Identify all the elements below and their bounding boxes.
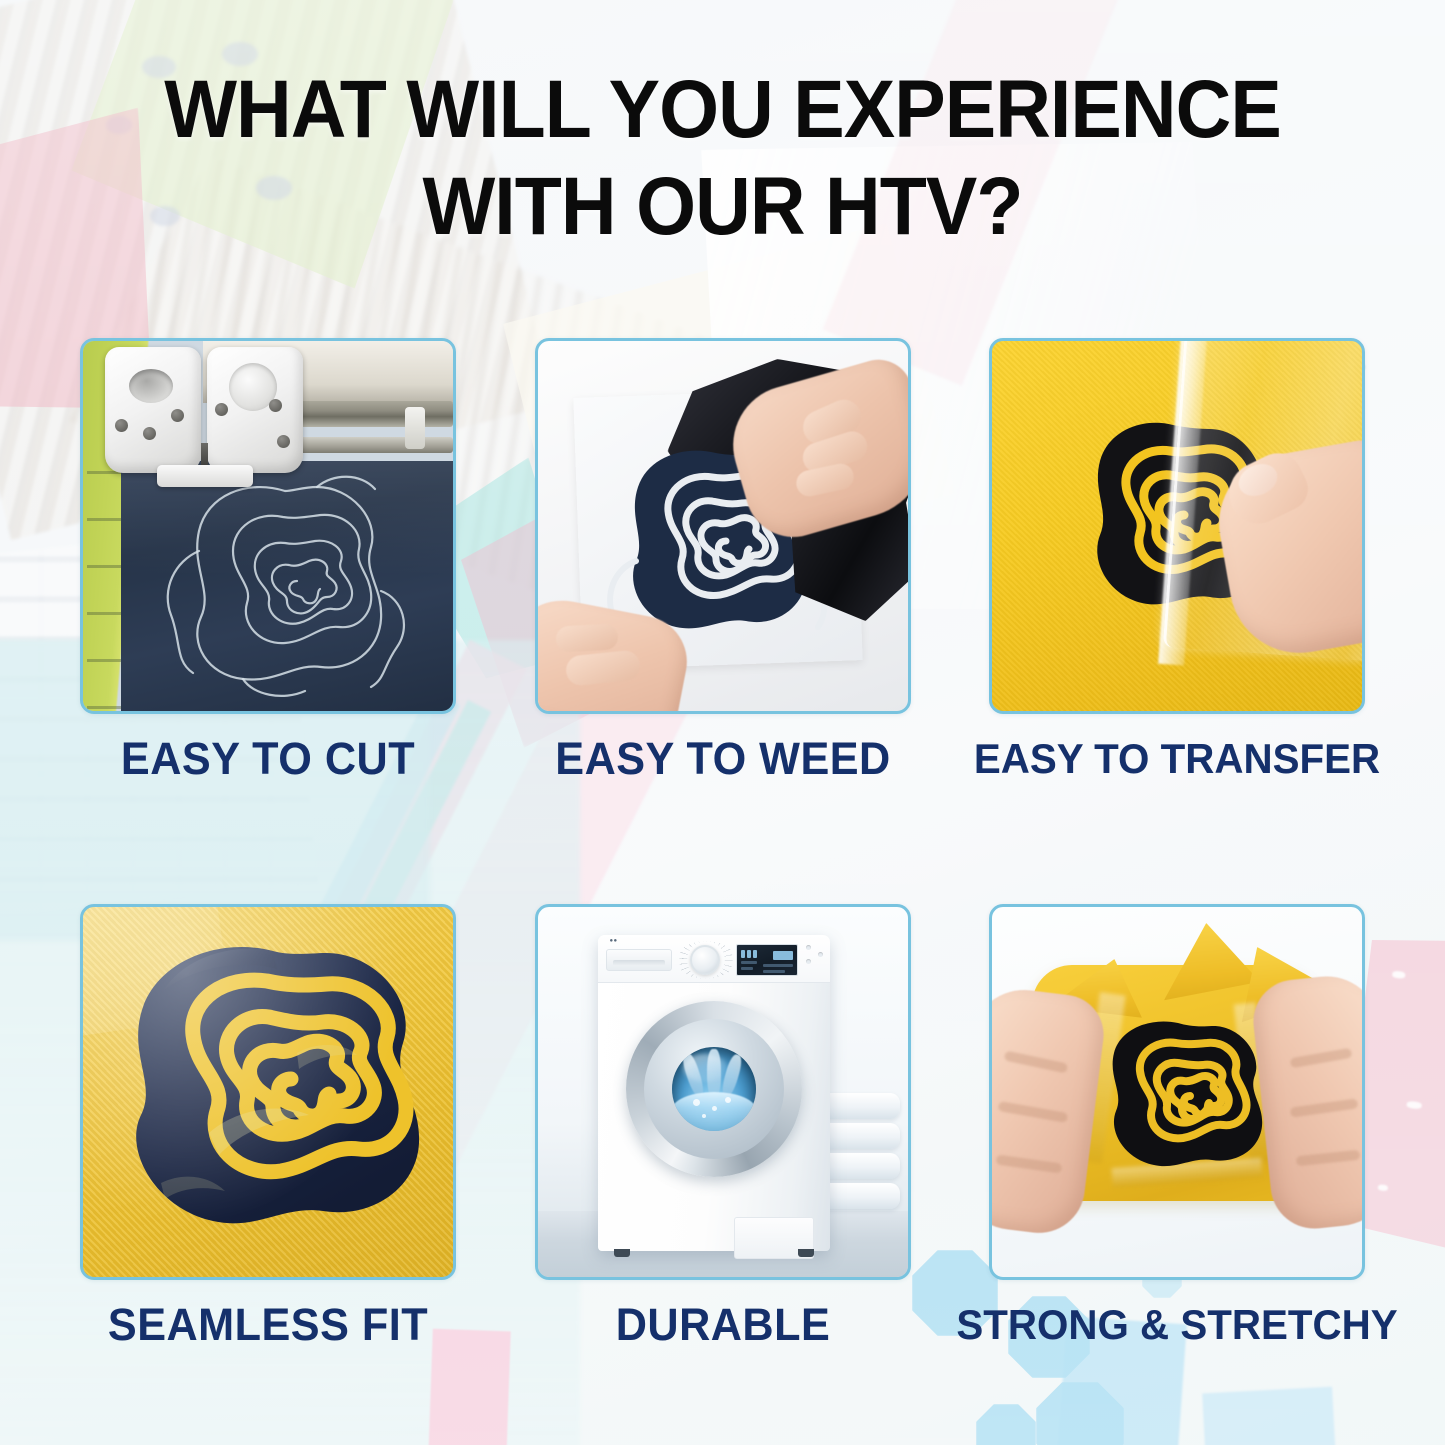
lcd-display [736,944,798,976]
carriage-screw [269,399,282,412]
feature-row-top: EASY TO CUT [80,338,1365,804]
carriage-screw [215,403,228,416]
water-bubble [702,1114,706,1118]
feature-caption-easy-to-transfer: EASY TO TRANSFER [997,714,1358,804]
cutter-head-left [105,347,201,473]
control-button[interactable] [806,959,811,964]
lcd-segment [741,961,757,964]
control-panel: ●● [598,935,830,983]
feature-cell-easy-to-cut: EASY TO CUT [80,338,456,804]
feature-image-seamless-fit [80,904,456,1280]
feature-cell-seamless-fit: SEAMLESS FIT [80,904,456,1370]
feature-cell-easy-to-weed: EASY TO WEED [535,338,911,804]
washing-machine-body: ●● [598,935,830,1251]
feature-caption-strong-stretchy: STRONG & STRETCHY [997,1280,1358,1370]
detergent-drawer[interactable] [606,949,672,971]
lcd-segment [741,950,745,958]
lcd-segment [741,967,753,970]
door-bezel [644,1019,784,1159]
lcd-segment [763,970,785,973]
carriage-screw [115,419,128,432]
feature-image-easy-to-weed [535,338,911,714]
feature-cell-easy-to-transfer: EASY TO TRANSFER [989,338,1365,804]
carriage-foot [157,465,253,487]
lcd-segment [753,950,757,958]
control-button[interactable] [818,952,823,957]
lcd-time-readout [773,951,793,960]
lcd-segment [763,964,793,967]
carriage-screw [143,427,156,440]
carriage-screw [171,409,184,422]
htv-feature-infographic: silhouette AM WHAT WILL YOU EXPERIENCE W… [0,0,1445,1445]
feature-image-easy-to-transfer [989,338,1365,714]
machine-foot [798,1249,814,1257]
cutter-carriage [105,347,305,487]
cutter-head-right [207,347,303,473]
feature-image-easy-to-cut [80,338,456,714]
door-glass[interactable] [672,1047,756,1131]
control-button[interactable] [806,945,811,950]
infographic-content: WHAT WILL YOU EXPERIENCE WITH OUR HTV? [0,0,1445,1445]
rose-cut-outline [135,451,435,701]
headline-line-1: WHAT WILL YOU EXPERIENCE [43,62,1401,159]
pinch-roller [405,407,425,449]
feature-row-bottom: SEAMLESS FIT ●● [80,904,1365,1370]
feature-caption-seamless-fit: SEAMLESS FIT [88,1280,449,1370]
headline-line-2: WITH OUR HTV? [43,159,1401,256]
feature-cell-durable: ●● [535,904,911,1370]
page-title: WHAT WILL YOU EXPERIENCE WITH OUR HTV? [43,62,1401,256]
door-ring [626,1001,802,1177]
carriage-screw [277,435,290,448]
feature-image-durable: ●● [535,904,911,1280]
glass-reflection [683,1054,727,1083]
feature-caption-easy-to-cut: EASY TO CUT [88,714,449,804]
feature-image-strong-stretchy [989,904,1365,1280]
water-bubble [712,1106,717,1111]
fabric-sheen [83,907,453,1277]
drum-water [672,1092,756,1131]
feature-cell-strong-stretchy: STRONG & STRETCHY [989,904,1365,1370]
blade-holder-opening [129,369,173,403]
lcd-segment [747,950,751,958]
program-selector-dial[interactable] [690,945,720,975]
feature-caption-easy-to-weed: EASY TO WEED [542,714,903,804]
feature-caption-durable: DURABLE [542,1280,903,1370]
carriage-rail [293,401,453,427]
machine-foot [614,1249,630,1257]
finger [555,623,618,652]
brand-mark: ●● [610,938,618,944]
feature-grid: EASY TO CUT [80,338,1365,1370]
